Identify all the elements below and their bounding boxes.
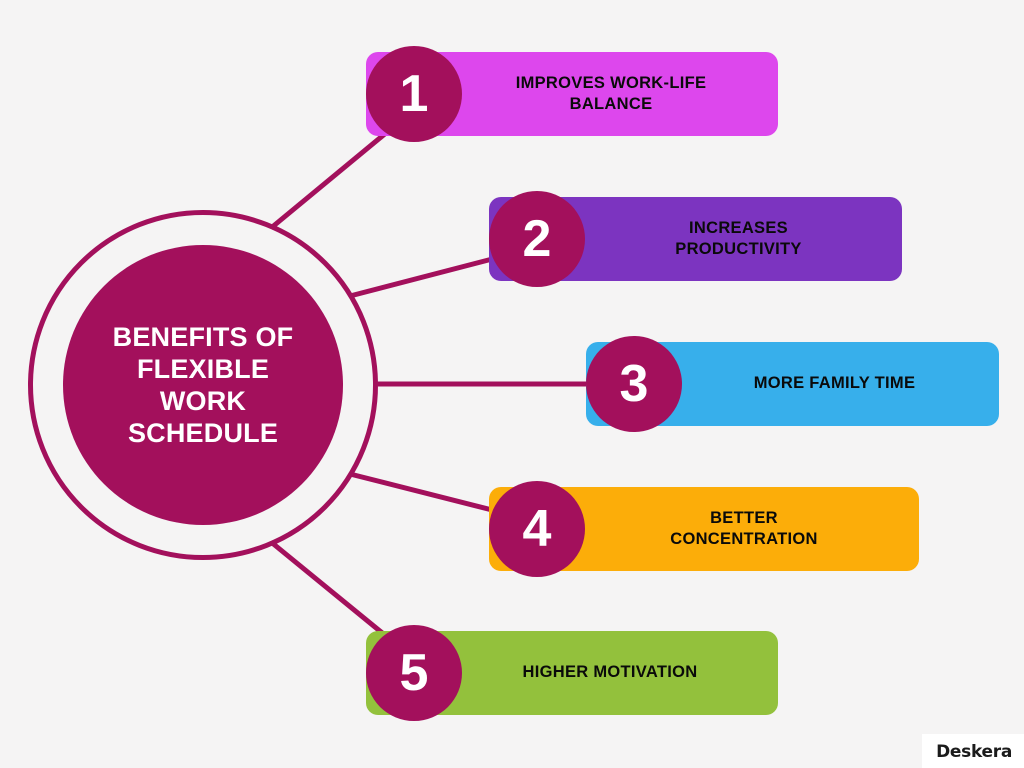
brand-name: Deskera bbox=[936, 742, 1012, 762]
hub-core: BENEFITS OF FLEXIBLE WORK SCHEDULE bbox=[63, 245, 343, 525]
item-label-4: BETTER CONCENTRATION bbox=[590, 508, 818, 550]
item-label-2: INCREASES PRODUCTIVITY bbox=[589, 218, 801, 260]
item-badge-3[interactable]: 3 bbox=[586, 336, 682, 432]
list-item[interactable]: HIGHER MOTIVATION 5 bbox=[366, 625, 778, 721]
item-label-5: HIGHER MOTIVATION bbox=[447, 662, 698, 683]
item-number-5: 5 bbox=[400, 647, 429, 699]
item-label-1: IMPROVES WORK-LIFE BALANCE bbox=[438, 73, 707, 115]
connector-line-4 bbox=[350, 474, 500, 512]
item-number-4: 4 bbox=[523, 503, 552, 555]
item-number-3: 3 bbox=[620, 358, 649, 410]
item-badge-4[interactable]: 4 bbox=[489, 481, 585, 577]
infographic-canvas: BENEFITS OF FLEXIBLE WORK SCHEDULE IMPRO… bbox=[0, 0, 1024, 768]
list-item[interactable]: BETTER CONCENTRATION 4 bbox=[489, 481, 919, 577]
item-badge-1[interactable]: 1 bbox=[366, 46, 462, 142]
connector-line-5 bbox=[271, 542, 386, 636]
list-item[interactable]: IMPROVES WORK-LIFE BALANCE 1 bbox=[366, 46, 778, 142]
item-number-1: 1 bbox=[400, 68, 429, 120]
brand-logo: Deskera bbox=[922, 734, 1024, 768]
item-badge-2[interactable]: 2 bbox=[489, 191, 585, 287]
hub-title: BENEFITS OF FLEXIBLE WORK SCHEDULE bbox=[99, 321, 308, 450]
item-badge-5[interactable]: 5 bbox=[366, 625, 462, 721]
list-item[interactable]: MORE FAMILY TIME 3 bbox=[586, 336, 999, 432]
item-label-3: MORE FAMILY TIME bbox=[670, 373, 916, 394]
connector-line-1 bbox=[271, 133, 386, 228]
list-item[interactable]: INCREASES PRODUCTIVITY 2 bbox=[489, 191, 902, 287]
item-number-2: 2 bbox=[523, 213, 552, 265]
connector-line-2 bbox=[350, 257, 500, 296]
